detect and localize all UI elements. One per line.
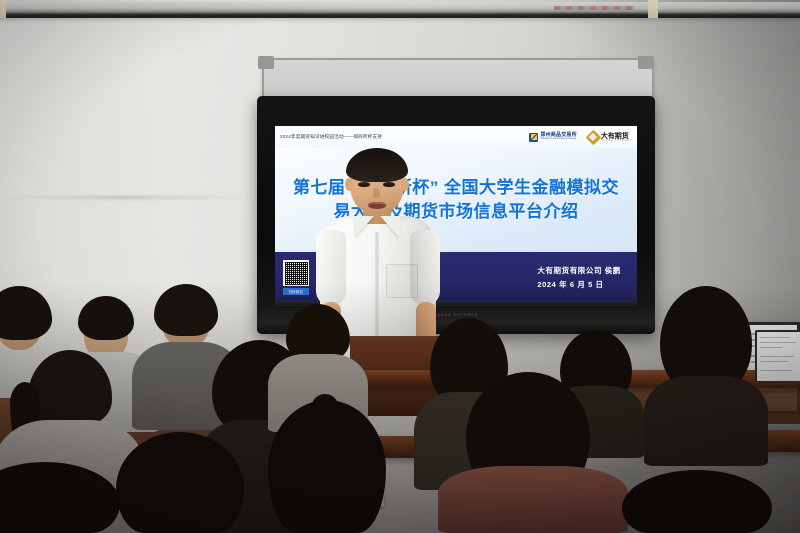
dayou-logo-cn: 大有期货 — [601, 133, 632, 140]
presenter-collar-left — [354, 216, 374, 238]
qr-code-pattern — [285, 262, 308, 285]
slide-credits: 大有期货有限公司 侯鹏 2024 年 6 月 5 日 — [537, 264, 621, 293]
roller-bracket-left — [0, 0, 6, 18]
presenter-hair — [346, 148, 408, 182]
qr-code-block[interactable]: 扫码报名 — [283, 260, 309, 295]
display-brand-label: DAHUA FUTURES — [434, 313, 479, 317]
presenter-ear-right — [401, 178, 409, 191]
slide-header: 2024年度期货知识进校园活动——郑商所杯支持 郑州商品交易所 Zhengzho… — [275, 126, 637, 148]
student-near-3-body — [438, 466, 628, 533]
presenter-ear-left — [345, 178, 353, 191]
student-mid-5-body — [644, 376, 768, 466]
whiteboard-bracket-left — [258, 56, 274, 69]
presenter-sleeve-left — [316, 230, 346, 306]
whiteboard-bracket-right — [638, 56, 654, 69]
slide-logos: 郑州商品交易所 Zhengzhou Commodity Exchange 大有期… — [529, 132, 632, 143]
presenter-collar-right — [380, 216, 400, 238]
slide-date-line: 2024 年 6 月 5 日 — [537, 278, 621, 292]
wall-display[interactable]: 2024年度期货知识进校园活动——郑商所杯支持 郑州商品交易所 Zhengzho… — [257, 96, 655, 334]
roller-label-strip — [554, 6, 634, 10]
dayou-logo-en: DAYOU FUTURES — [601, 140, 632, 142]
dayou-logo: 大有期货 DAYOU FUTURES — [588, 132, 632, 143]
projector-screen-roller — [0, 2, 800, 18]
slide-presenter-line: 大有期货有限公司 侯鹏 — [537, 264, 621, 278]
presenter-eye-left — [358, 182, 370, 187]
roller-bracket-right — [648, 0, 658, 18]
dayou-logo-icon — [588, 132, 599, 143]
qr-caption: 扫码报名 — [283, 288, 309, 295]
presenter-mouth — [368, 202, 386, 209]
lecture-hall-photo: 2024年度期货知识进校园活动——郑商所杯支持 郑州商品交易所 Zhengzho… — [0, 0, 800, 533]
czce-logo-en: Zhengzhou Commodity Exchange — [540, 138, 576, 141]
czce-logo-icon — [529, 133, 538, 142]
wall-scuff-mark — [0, 196, 250, 199]
czce-logo: 郑州商品交易所 Zhengzhou Commodity Exchange — [529, 133, 576, 142]
presenter-shirt-pocket — [386, 264, 418, 298]
laptop-right[interactable] — [755, 330, 800, 382]
presenter-eye-right — [383, 182, 395, 187]
qr-code[interactable] — [283, 260, 309, 286]
laptop-right-screen — [757, 332, 800, 381]
presenter-nose — [373, 188, 380, 198]
slide-header-note: 2024年度期货知识进校园活动——郑商所杯支持 — [280, 134, 382, 140]
